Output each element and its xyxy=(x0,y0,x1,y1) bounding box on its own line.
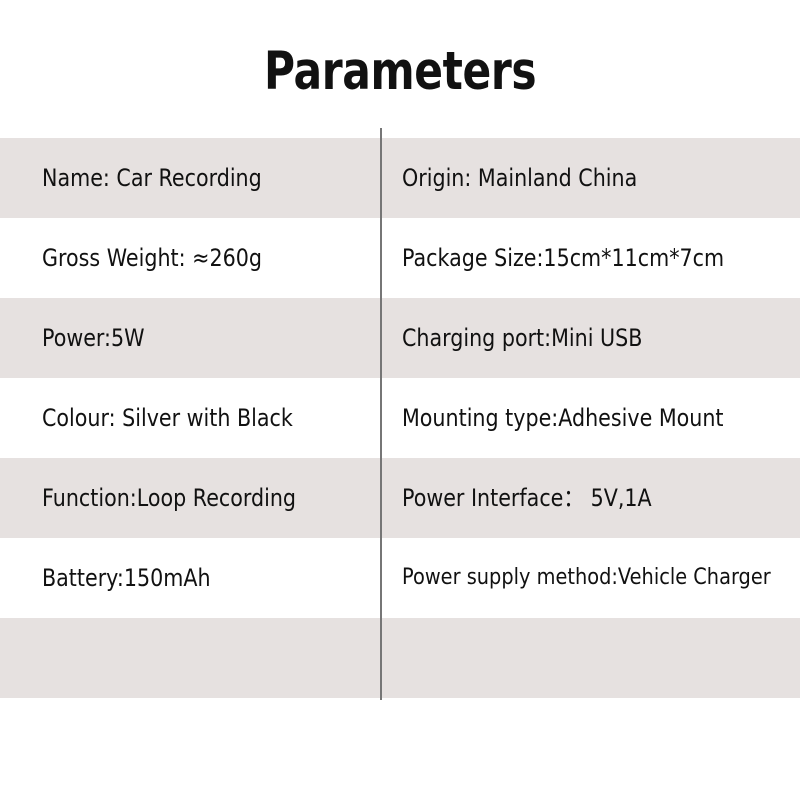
spec-text: Function:Loop Recording xyxy=(42,483,296,513)
table-cell-left: Power:5W xyxy=(0,298,380,378)
spec-text: Battery:150mAh xyxy=(42,563,211,593)
table-row: Name: Car Recording Origin: Mainland Chi… xyxy=(0,138,800,218)
spec-text: Mounting type:Adhesive Mount xyxy=(402,403,724,433)
table-cell-right xyxy=(380,618,800,698)
table-cell-left: Name: Car Recording xyxy=(0,138,380,218)
table-cell-left: Colour: Silver with Black xyxy=(0,378,380,458)
spec-text: Colour: Silver with Black xyxy=(42,403,293,433)
page-title: Parameters xyxy=(264,44,536,100)
table-row: Colour: Silver with Black Mounting type:… xyxy=(0,378,800,458)
table-cell-right: Power supply method:Vehicle Charger xyxy=(380,538,800,618)
column-divider xyxy=(380,128,382,700)
specifications-table: Name: Car Recording Origin: Mainland Chi… xyxy=(0,138,800,698)
page-title-container: Parameters xyxy=(0,44,800,100)
spec-text: Power supply method:Vehicle Charger xyxy=(402,563,771,593)
table-cell-right: Charging port:Mini USB xyxy=(380,298,800,378)
spec-text: Package Size:15cm*11cm*7cm xyxy=(402,243,724,273)
parameters-page: Parameters Name: Car Recording Origin: M… xyxy=(0,0,800,800)
table-row: Power:5W Charging port:Mini USB xyxy=(0,298,800,378)
table-cell-right: Package Size:15cm*11cm*7cm xyxy=(380,218,800,298)
table-cell-left: Function:Loop Recording xyxy=(0,458,380,538)
spec-text: Gross Weight: ≈260g xyxy=(42,243,262,273)
spec-text: Charging port:Mini USB xyxy=(402,323,642,353)
spec-text: Name: Car Recording xyxy=(42,163,262,193)
spec-text: Power Interface： 5V,1A xyxy=(402,483,652,513)
table-row: Function:Loop Recording Power Interface：… xyxy=(0,458,800,538)
table-row: Battery:150mAh Power supply method:Vehic… xyxy=(0,538,800,618)
table-cell-left xyxy=(0,618,380,698)
spec-text: Origin: Mainland China xyxy=(402,163,637,193)
table-cell-right: Mounting type:Adhesive Mount xyxy=(380,378,800,458)
table-cell-right: Power Interface： 5V,1A xyxy=(380,458,800,538)
table-row: Gross Weight: ≈260g Package Size:15cm*11… xyxy=(0,218,800,298)
table-cell-left: Gross Weight: ≈260g xyxy=(0,218,380,298)
spec-text: Power:5W xyxy=(42,323,145,353)
table-cell-right: Origin: Mainland China xyxy=(380,138,800,218)
table-cell-left: Battery:150mAh xyxy=(0,538,380,618)
table-row xyxy=(0,618,800,698)
